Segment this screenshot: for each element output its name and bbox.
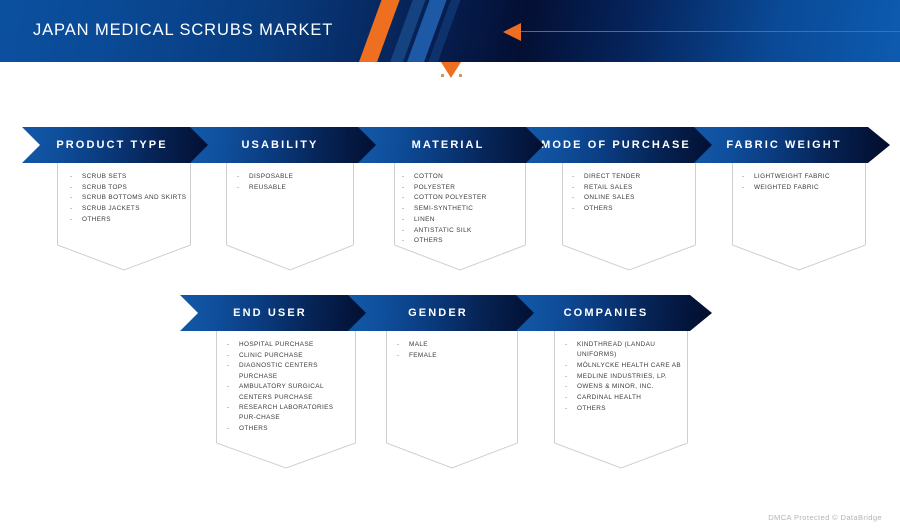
list-item: SCRUB BOTTOMS AND SKIRTS xyxy=(68,193,192,203)
segment-banner-label: MODE OF PURCHASE xyxy=(541,139,691,151)
list-item: REUSABLE xyxy=(235,183,355,193)
segment-item-list-material: COTTONPOLYESTERCOTTON POLYESTERSEMI-SYNT… xyxy=(400,172,526,247)
list-item: CLINIC PURCHASE xyxy=(225,351,349,361)
list-item: DIRECT TENDER xyxy=(570,172,696,182)
segment-item-list-gender: MALEFEMALE xyxy=(395,340,517,361)
list-item: MÖLNLYCKE HEALTH CARE AB xyxy=(563,361,689,371)
card-point xyxy=(226,245,354,271)
list-item: LIGHTWEIGHT FABRIC xyxy=(740,172,866,182)
card-edge xyxy=(216,313,217,443)
segment-item-list-companies: KINDTHREAD (LANDAU UNIFORMS)MÖLNLYCKE HE… xyxy=(563,340,689,414)
segment-banner-label: COMPANIES xyxy=(564,307,649,319)
segment-banner-label: END USER xyxy=(233,307,307,319)
list-item: DISPOSABLE xyxy=(235,172,355,182)
segmentation-board: SCRUB SETSSCRUB TOPSSCRUB BOTTOMS AND SK… xyxy=(0,62,900,532)
list-item: HOSPITAL PURCHASE xyxy=(225,340,349,350)
segment-banner-product-type[interactable]: PRODUCT TYPE xyxy=(22,127,218,163)
list-item: RESEARCH LABORATORIES PUR-CHASE xyxy=(225,403,349,423)
page-title: JAPAN MEDICAL SCRUBS MARKET xyxy=(33,21,333,40)
list-item: DIAGNOSTIC CENTERS PURCHASE xyxy=(225,361,349,381)
list-item: MEDLINE INDUSTRIES, LP. xyxy=(563,372,689,382)
list-item: OTHERS xyxy=(400,236,526,246)
segment-banner-fabric-weight[interactable]: FABRIC WEIGHT xyxy=(694,127,890,163)
list-item: OTHERS xyxy=(570,204,696,214)
segment-item-list-end-user: HOSPITAL PURCHASECLINIC PURCHASEDIAGNOST… xyxy=(225,340,349,435)
list-item: AMBULATORY SURGICAL CENTERS PURCHASE xyxy=(225,382,349,402)
list-item: MALE xyxy=(395,340,517,350)
segment-banner-label: MATERIAL xyxy=(412,139,485,151)
card-point xyxy=(562,245,696,271)
list-item: OTHERS xyxy=(68,215,192,225)
card-point xyxy=(57,245,191,271)
card-point xyxy=(554,443,688,469)
list-item: ANTISTATIC SILK xyxy=(400,226,526,236)
segment-banner-mode-of-purchase[interactable]: MODE OF PURCHASE xyxy=(526,127,722,163)
page-header: JAPAN MEDICAL SCRUBS MARKET xyxy=(0,0,900,62)
segment-banner-usability[interactable]: USABILITY xyxy=(190,127,386,163)
segment-item-list-usability: DISPOSABLEREUSABLE xyxy=(235,172,355,193)
segment-item-list-fabric-weight: LIGHTWEIGHT FABRICWEIGHTED FABRIC xyxy=(740,172,866,193)
list-item: OWENS & MINOR, INC. xyxy=(563,382,689,392)
left-arrow-icon xyxy=(503,23,521,41)
copyright-watermark: DMCA Protected © DataBridge xyxy=(768,513,882,522)
segment-item-list-product-type: SCRUB SETSSCRUB TOPSSCRUB BOTTOMS AND SK… xyxy=(68,172,192,226)
list-item: FEMALE xyxy=(395,351,517,361)
list-item: OTHERS xyxy=(225,424,349,434)
card-point xyxy=(394,245,526,271)
segment-banner-end-user[interactable]: END USER xyxy=(180,295,376,331)
segment-banner-companies[interactable]: COMPANIES xyxy=(516,295,712,331)
card-point xyxy=(732,245,866,271)
segment-banner-label: GENDER xyxy=(408,307,468,319)
segment-banner-label: PRODUCT TYPE xyxy=(56,139,167,151)
list-item: KINDTHREAD (LANDAU UNIFORMS) xyxy=(563,340,689,360)
list-item: ONLINE SALES xyxy=(570,193,696,203)
segment-banner-gender[interactable]: GENDER xyxy=(348,295,544,331)
segment-banner-material[interactable]: MATERIAL xyxy=(358,127,554,163)
list-item: POLYESTER xyxy=(400,183,526,193)
card-edge xyxy=(554,313,555,443)
list-item: SCRUB TOPS xyxy=(68,183,192,193)
segment-card-gender xyxy=(386,313,518,443)
list-item: SEMI-SYNTHETIC xyxy=(400,204,526,214)
card-point xyxy=(386,443,518,469)
list-item: COTTON POLYESTER xyxy=(400,193,526,203)
card-edge xyxy=(355,313,356,443)
header-rule xyxy=(521,31,900,32)
segment-banner-label: FABRIC WEIGHT xyxy=(726,139,841,151)
card-edge xyxy=(386,313,387,443)
list-item: RETAIL SALES xyxy=(570,183,696,193)
list-item: WEIGHTED FABRIC xyxy=(740,183,866,193)
list-item: COTTON xyxy=(400,172,526,182)
list-item: SCRUB JACKETS xyxy=(68,204,192,214)
list-item: LINEN xyxy=(400,215,526,225)
list-item: SCRUB SETS xyxy=(68,172,192,182)
segment-banner-label: USABILITY xyxy=(242,139,319,151)
card-point xyxy=(216,443,356,469)
list-item: OTHERS xyxy=(563,404,689,414)
segment-item-list-mode-of-purchase: DIRECT TENDERRETAIL SALESONLINE SALESOTH… xyxy=(570,172,696,215)
list-item: CARDINAL HEALTH xyxy=(563,393,689,403)
card-edge xyxy=(517,313,518,443)
